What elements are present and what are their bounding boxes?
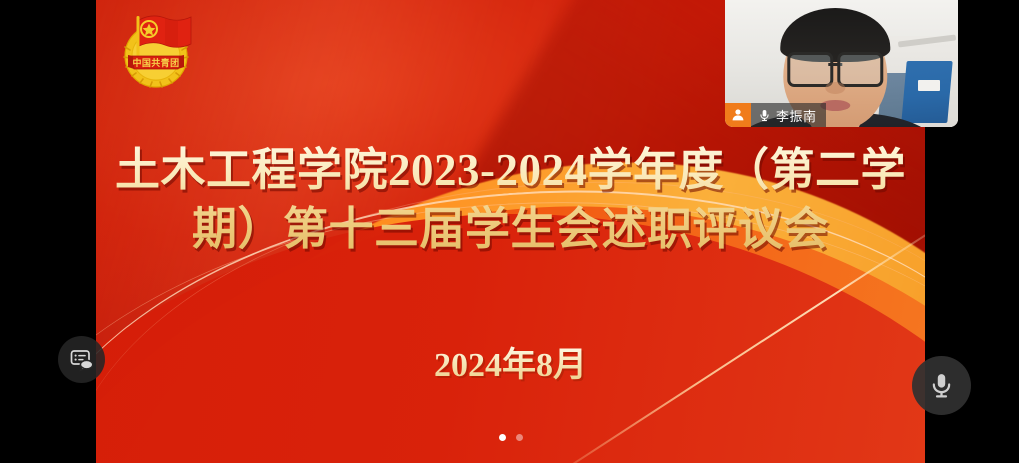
- slide-date: 2024年8月: [104, 345, 917, 387]
- communist-youth-league-emblem-icon: 中国共青团: [112, 6, 208, 94]
- person-icon: [731, 108, 745, 122]
- annotation-board-button[interactable]: [58, 336, 105, 383]
- screen-share-viewport: 中国共青团 土木工程学院2023-2024学年度（第二学 期）第十三届学生会述职…: [0, 0, 1019, 463]
- microphone-icon: [927, 371, 956, 400]
- glasses-lens-right: [837, 52, 883, 87]
- svg-text:中国共青团: 中国共青团: [132, 57, 179, 69]
- participant-name-bar: 李振南: [725, 103, 826, 127]
- participant-nose: [825, 82, 845, 94]
- glasses-lens-left: [787, 52, 833, 87]
- page-dot-2[interactable]: [516, 434, 523, 441]
- annotation-board-icon: [69, 347, 95, 373]
- video-background-binder-label: [918, 80, 940, 91]
- participant-role-badge: [725, 103, 751, 127]
- participant-glasses-icon: [787, 52, 883, 82]
- participant-name: 李振南: [776, 106, 817, 125]
- microphone-icon: [758, 109, 771, 122]
- page-dot-1[interactable]: [499, 434, 506, 441]
- slide-title: 土木工程学院2023-2024学年度（第二学 期）第十三届学生会述职评议会: [104, 141, 917, 259]
- participant-video-thumbnail[interactable]: 李振南: [725, 0, 958, 127]
- slide-page-indicator[interactable]: [96, 434, 925, 441]
- microphone-toggle-button[interactable]: [912, 356, 971, 415]
- participant-name-container: 李振南: [751, 103, 826, 127]
